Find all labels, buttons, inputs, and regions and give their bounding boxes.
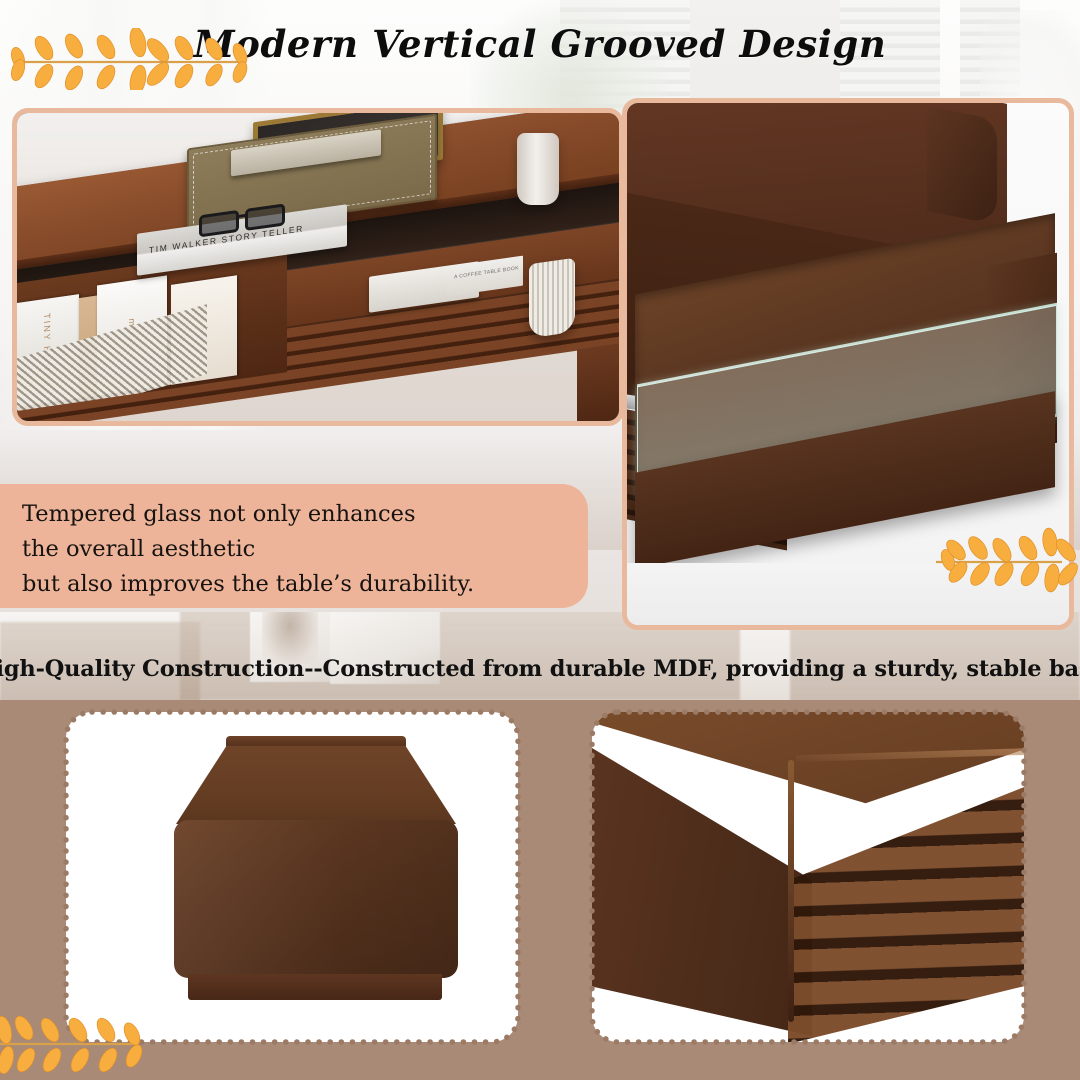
product-feature-image: Modern Vertical Grooved Design <box>0 0 1080 1080</box>
callout-line-1: Tempered glass not only enhances <box>22 497 564 532</box>
construction-banner-text: High-Quality Construction--Constructed f… <box>0 656 1080 682</box>
callout-line-3: but also improves the table’s durability… <box>22 567 564 602</box>
tempered-glass-callout: Tempered glass not only enhances the ove… <box>0 484 588 608</box>
laurel-branch-icon <box>0 1004 154 1080</box>
table-leg <box>577 341 624 426</box>
laurel-branch-icon <box>8 28 258 90</box>
grooved-corner-detail-photo <box>592 712 1024 1042</box>
ribbed-vase <box>529 258 575 338</box>
table-end-view-photo <box>66 712 518 1042</box>
decor-vase <box>517 133 559 205</box>
laurel-branch-icon <box>930 516 1080 596</box>
decor-card-text: A COFFEE TABLE BOOK <box>454 265 519 280</box>
callout-line-2: the overall aesthetic <box>22 532 564 567</box>
construction-banner: High-Quality Construction--Constructed f… <box>0 636 1080 702</box>
coffee-table-living-room-photo: TINY HOUSE minim mo isme TIM WALKER STOR… <box>12 108 624 426</box>
